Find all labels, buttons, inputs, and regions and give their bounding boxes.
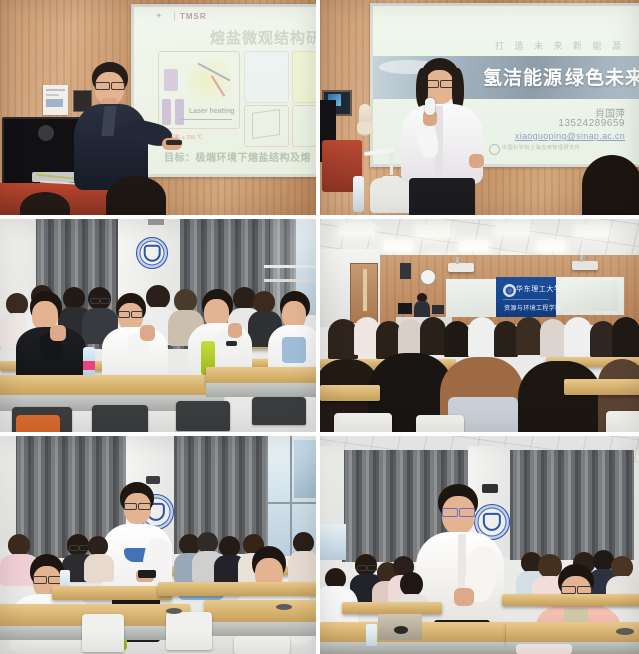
- audience-head: [106, 176, 166, 215]
- window: [320, 524, 346, 560]
- wristwatch: [226, 341, 237, 346]
- ceiling-light: [576, 225, 608, 236]
- photo-top-right[interactable]: 打 造 未 来 新 能 源 氢洁能源 绿色未来 肖国萍 13524289659 …: [320, 0, 639, 215]
- photo-mid-left[interactable]: [0, 219, 316, 432]
- desk-front-row: [0, 375, 224, 397]
- ceiling-projector: [572, 261, 598, 270]
- slide-headline-2: 绿色未来: [565, 63, 639, 90]
- presenter-female: [395, 58, 505, 215]
- ceiling-light: [538, 241, 564, 251]
- slide-diagram-label: Laser heating: [189, 108, 235, 115]
- notebook: [516, 644, 572, 654]
- wall-speaker: [400, 263, 411, 279]
- glasses-icon: [442, 508, 458, 517]
- skirt: [409, 178, 475, 215]
- chair: [166, 612, 212, 650]
- photo-top-left[interactable]: ✈ TMSR 熔盐微观结构研 Laser heating 高温熔盐 ≥ 700 …: [0, 0, 316, 215]
- desk-row: [502, 594, 639, 606]
- chair: [176, 401, 230, 431]
- photo-mid-right[interactable]: 华东理工大学 资源与环境工程学院: [320, 219, 639, 432]
- desk-row: [158, 582, 316, 596]
- desk-row: [52, 586, 172, 600]
- presenter-remote: [166, 140, 182, 145]
- slide-kicker: 打 造 未 来 新 能 源: [495, 39, 625, 52]
- ceiling-light: [384, 241, 412, 251]
- slide-footer: 目标：极端环境下熔盐结构及熔: [164, 149, 311, 164]
- microphone-icon: [425, 98, 435, 115]
- ceiling-light: [496, 223, 530, 235]
- chair: [234, 636, 290, 654]
- ceiling-light: [340, 223, 374, 235]
- slide-speaker-phone: 13524289659: [558, 118, 625, 129]
- audience-person-front: [16, 291, 86, 377]
- front-monitor: [432, 305, 444, 314]
- chair: [252, 397, 306, 425]
- wall-telephone[interactable]: [357, 104, 373, 142]
- whiteboard-left: [446, 279, 496, 317]
- desk-grommet: [616, 628, 634, 635]
- chair: [82, 614, 124, 652]
- front-monitor: [398, 303, 412, 314]
- ceiling-speaker: [148, 219, 164, 225]
- ceiling-projector: [448, 263, 474, 272]
- smartphone[interactable]: [138, 570, 156, 578]
- audience-person-front: [102, 293, 168, 377]
- desk-row: [342, 602, 442, 614]
- slide-title: 熔盐微观结构研: [210, 27, 316, 48]
- photo-bottom-left[interactable]: [0, 436, 316, 654]
- desk-grommet: [276, 604, 292, 610]
- photo-bottom-right[interactable]: [320, 436, 639, 654]
- desk-grommet: [166, 608, 182, 614]
- bag: [16, 415, 60, 432]
- ceiling-light: [460, 241, 488, 251]
- university-emblem-icon: [503, 284, 516, 297]
- wall-clock: [420, 269, 436, 285]
- photo-collage: ✈ TMSR 熔盐微观结构研 Laser heating 高温熔盐 ≥ 700 …: [0, 0, 639, 650]
- glasses-icon: [95, 82, 110, 90]
- audience-row: [320, 315, 639, 432]
- curtain: [510, 450, 634, 560]
- audience-head: [582, 155, 639, 215]
- chair: [92, 405, 148, 432]
- slide-logo-left: ✈: [156, 12, 162, 20]
- cup: [366, 624, 377, 646]
- ceiling-light: [416, 225, 450, 237]
- audience-person-front: [188, 289, 252, 375]
- screen-university: 华东理工大学: [516, 284, 562, 294]
- university-emblem-icon: [136, 237, 168, 269]
- presenter-male: [70, 60, 180, 190]
- slide-logo-right: TMSR: [180, 12, 207, 21]
- desk-front-row: [204, 600, 316, 624]
- slide-institute: 中国科学院上海应用物理研究所: [502, 144, 580, 151]
- slide-speaker-email: xiaoguoping@sinap.ac.cn: [515, 131, 625, 141]
- audience-person-front: [268, 291, 316, 375]
- screen-school: 资源与环境工程学院: [504, 303, 562, 312]
- projection-screen: 华东理工大学 资源与环境工程学院: [496, 277, 556, 317]
- water-bottle: [353, 176, 364, 212]
